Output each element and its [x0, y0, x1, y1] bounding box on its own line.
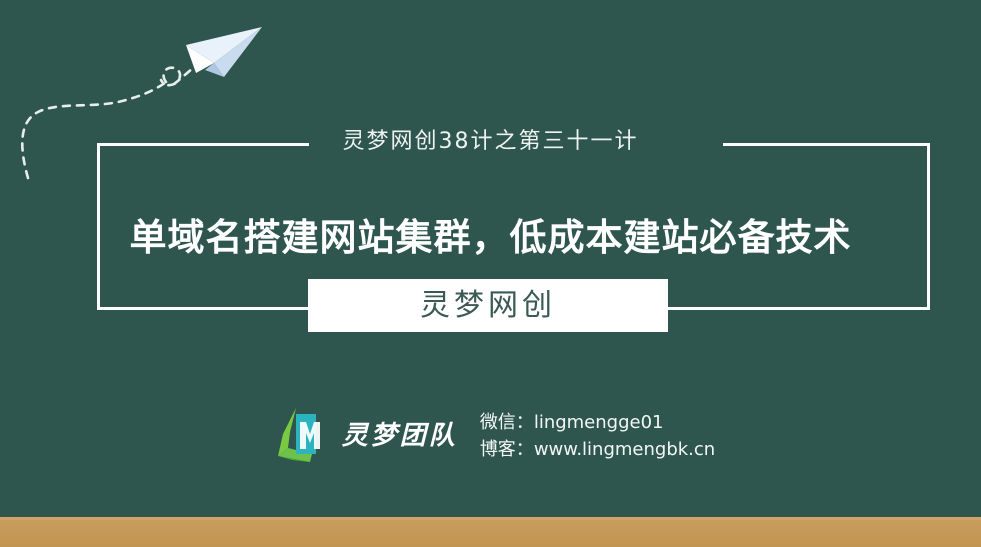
- contact-label-blog: 博客：: [480, 438, 534, 461]
- gold-band-highlight: [0, 517, 981, 520]
- logo-group: 灵梦团队: [266, 404, 458, 468]
- brand-plate: 灵梦网创: [308, 279, 668, 332]
- presentation-slide: 灵梦网创38计之第三十一计 单域名搭建网站集群，低成本建站必备技术 灵梦网创 灵…: [0, 0, 981, 547]
- contact-line-wechat: 微信： lingmengge01: [480, 411, 715, 434]
- slide-subtitle: 灵梦网创38计之第三十一计: [0, 131, 981, 153]
- contact-value-blog: www.lingmengbk.cn: [534, 438, 715, 461]
- dashed-loop: [161, 68, 180, 86]
- paper-plane-icon: [186, 27, 262, 77]
- dashed-trail-tail: [174, 64, 198, 84]
- paper-plane-decoration: [0, 0, 320, 200]
- bottom-gold-band: [0, 517, 981, 547]
- contact-block: 微信： lingmengge01 博客： www.lingmengbk.cn: [480, 411, 715, 461]
- contact-label-wechat: 微信：: [480, 411, 534, 434]
- slide-title: 单域名搭建网站集群，低成本建站必备技术: [0, 217, 981, 260]
- contact-line-blog: 博客： www.lingmengbk.cn: [480, 438, 715, 461]
- slide-footer: 灵梦团队 微信： lingmengge01 博客： www.lingmengbk…: [0, 396, 981, 476]
- brand-plate-label: 灵梦网创: [420, 291, 556, 321]
- contact-value-wechat: lingmengge01: [534, 411, 664, 434]
- logo-wordmark: 灵梦团队: [342, 423, 458, 449]
- dashed-flight-trail: [22, 82, 166, 178]
- lm-monogram-logo-icon: [266, 404, 332, 468]
